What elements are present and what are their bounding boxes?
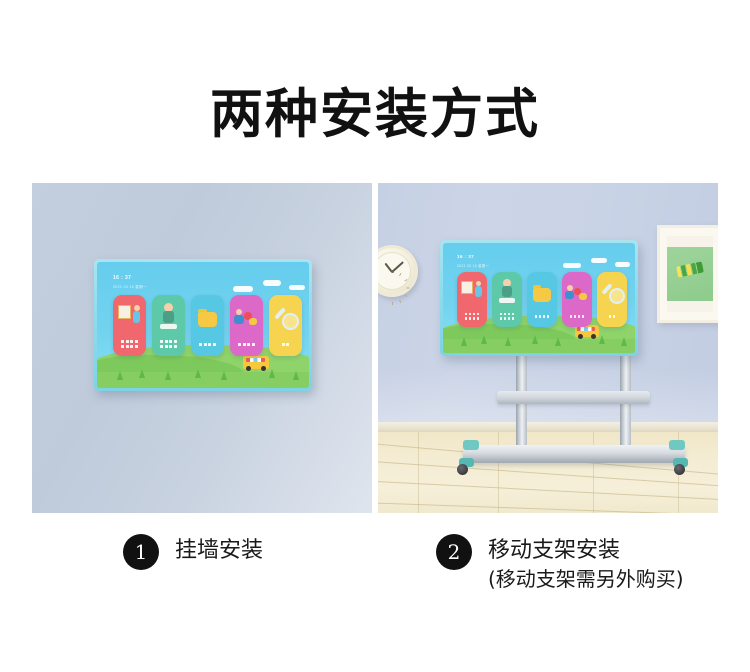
- child-body: [234, 315, 244, 324]
- picture-mat: [667, 236, 713, 312]
- magnifier-icon: [597, 281, 627, 305]
- cloud-icon: [563, 263, 581, 268]
- caption-text-1: 挂墙安装: [175, 534, 263, 565]
- card-label: [527, 315, 557, 318]
- card-label: [191, 343, 224, 346]
- platform: [160, 324, 177, 329]
- caption-option-1: 1 挂墙安装: [123, 534, 263, 570]
- toy-block: [579, 293, 587, 300]
- option-badge-2: 2: [436, 534, 472, 570]
- app-card-drawing[interactable]: [113, 295, 146, 356]
- tree-icon: [221, 371, 227, 380]
- stand-base: [463, 445, 685, 463]
- children-playing-icon: [562, 283, 592, 305]
- app-card-search[interactable]: [597, 272, 627, 327]
- tree-icon: [481, 335, 487, 344]
- card-label: [492, 313, 522, 320]
- option-label-1: 挂墙安装: [175, 537, 263, 565]
- stand-foot-cap: [669, 440, 685, 450]
- card-label: [269, 343, 302, 346]
- framed-plant-picture: [657, 225, 718, 323]
- option-note-2: (移动支架需另外购买): [488, 565, 684, 593]
- cloud-icon: [263, 280, 281, 286]
- magnifier-lens: [282, 313, 299, 330]
- child-body: [163, 311, 174, 323]
- display-screen: 16 : 37 2021 03 15 星期一: [97, 262, 309, 388]
- child-body: [475, 286, 482, 297]
- clock-face: [378, 252, 411, 290]
- cloud-icon: [289, 285, 305, 290]
- card-label: [457, 313, 487, 320]
- stand-caster: [674, 464, 685, 475]
- child-body: [502, 286, 512, 297]
- easel-and-child-icon: [457, 278, 487, 305]
- tree-icon: [195, 369, 201, 378]
- display-device-stand: 16 : 37 2021 03 15 星期一: [440, 240, 638, 356]
- tree-icon: [461, 337, 467, 346]
- app-card-exercise[interactable]: [492, 272, 522, 327]
- magnifier-lens: [609, 288, 625, 304]
- tree-icon: [293, 371, 299, 380]
- leaf-icon: [676, 261, 704, 277]
- child-head: [134, 305, 140, 311]
- easel-and-child-icon: [113, 302, 146, 332]
- tree-icon: [532, 335, 538, 344]
- child-body: [565, 291, 574, 299]
- app-card-search[interactable]: [269, 295, 302, 356]
- stand-shelf: [497, 391, 650, 404]
- folder-icon: [527, 285, 557, 305]
- app-card-row: [113, 295, 302, 356]
- school-bus-icon: [243, 356, 269, 369]
- bus-wheel: [261, 366, 266, 371]
- app-card-toys[interactable]: [562, 272, 592, 327]
- app-card-toys[interactable]: [230, 295, 263, 356]
- child-standing-icon: [492, 278, 522, 305]
- tree-icon: [505, 337, 511, 346]
- tree-icon: [139, 369, 145, 378]
- child-standing-icon: [152, 302, 185, 332]
- mobile-stand: [473, 348, 673, 473]
- easel: [461, 281, 473, 294]
- card-label: [597, 315, 627, 318]
- stand-caster: [457, 464, 468, 475]
- tree-icon: [555, 337, 561, 346]
- app-card-row: [457, 272, 627, 327]
- cloud-icon: [591, 258, 607, 263]
- option-badge-1: 1: [123, 534, 159, 570]
- child-body: [133, 311, 140, 323]
- display-device-wall: 16 : 37 2021 03 15 星期一: [94, 259, 312, 391]
- card-label: [230, 343, 263, 346]
- status-date: 2021 03 15 星期一: [457, 263, 489, 268]
- bus-windows: [246, 358, 265, 362]
- tree-icon: [621, 337, 627, 346]
- picture-art: [667, 247, 713, 302]
- scene-mobile-stand: 16 : 37 2021 03 15 星期一: [378, 183, 718, 513]
- caption-text-2: 移动支架安装 (移动支架需另外购买): [488, 534, 684, 593]
- page-title: 两种安装方式: [0, 86, 750, 144]
- status-time: 16 : 37: [457, 254, 474, 259]
- scene-wall-mounted: 16 : 37 2021 03 15 星期一: [32, 183, 372, 513]
- toy-block: [249, 318, 257, 325]
- tree-icon: [117, 371, 123, 380]
- folder-body: [198, 312, 217, 327]
- tree-icon: [599, 335, 605, 344]
- app-card-drawing[interactable]: [457, 272, 487, 327]
- platform: [499, 298, 515, 303]
- cloud-icon: [615, 262, 630, 267]
- display-bezel: 16 : 37 2021 03 15 星期一: [94, 259, 312, 391]
- folder-body: [533, 288, 551, 302]
- tree-icon: [269, 369, 275, 378]
- ground: [97, 372, 309, 388]
- card-label: [562, 315, 592, 318]
- card-label: [113, 340, 146, 348]
- app-card-files[interactable]: [527, 272, 557, 327]
- child-head: [476, 281, 481, 286]
- folder-icon: [191, 309, 224, 331]
- bus-wheel: [591, 334, 596, 339]
- children-playing-icon: [230, 307, 263, 331]
- display-screen: 16 : 37 2021 03 15 星期一: [443, 243, 635, 353]
- stand-foot-cap: [463, 440, 479, 450]
- status-date: 2021 03 15 星期一: [113, 285, 147, 290]
- card-label: [152, 340, 185, 348]
- app-card-files[interactable]: [191, 295, 224, 356]
- easel: [118, 305, 131, 319]
- bus-wheel: [246, 366, 251, 371]
- app-card-exercise[interactable]: [152, 295, 185, 356]
- tree-icon: [165, 371, 171, 380]
- display-bezel: 16 : 37 2021 03 15 星期一: [440, 240, 638, 356]
- caption-option-2: 2 移动支架安装 (移动支架需另外购买): [436, 534, 684, 593]
- bus-windows: [577, 327, 595, 331]
- ground: [443, 339, 635, 353]
- bus-wheel: [578, 334, 583, 339]
- option-label-2: 移动支架安装: [488, 537, 684, 565]
- cloud-icon: [233, 286, 253, 292]
- status-time: 16 : 37: [113, 275, 131, 281]
- magnifier-icon: [269, 305, 302, 331]
- clock-center: [391, 270, 394, 273]
